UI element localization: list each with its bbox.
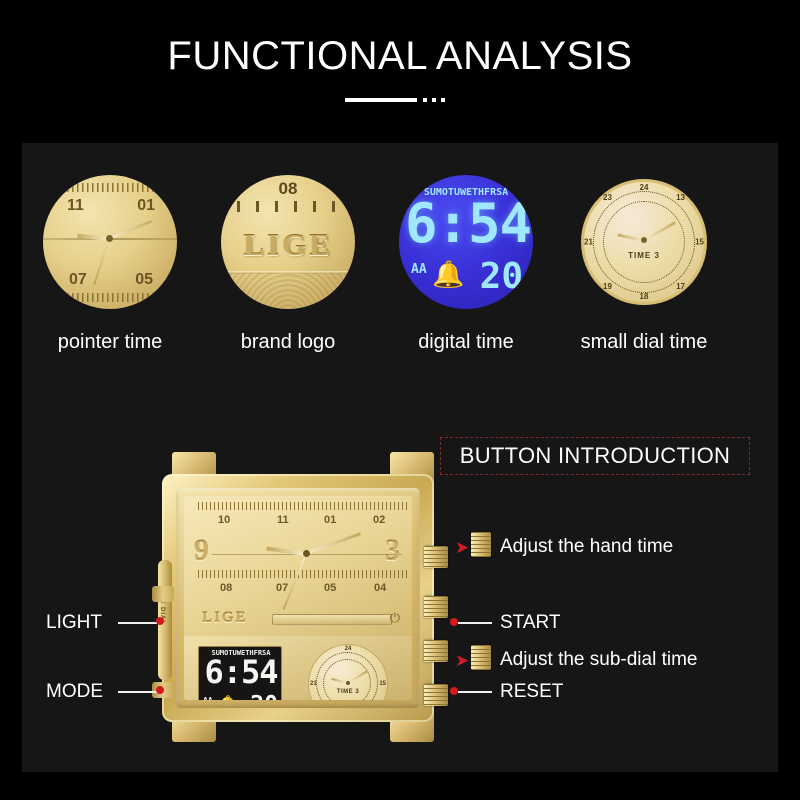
tick-marks [198, 570, 410, 578]
red-arrow-icon: ➤ [455, 539, 469, 556]
watch-dial: 10 11 01 02 08 07 05 04 9 3 [184, 496, 412, 700]
dial-numeral: 05 [135, 271, 153, 289]
brand-row: LIGE ⏻ [184, 608, 412, 634]
dial-numeral: 01 [324, 514, 336, 526]
hand-pivot [303, 550, 310, 557]
subdial-hour-label: 21 [584, 238, 593, 247]
red-dot-icon [156, 686, 164, 694]
analog-dial-closeup-icon: 11 01 07 05 [43, 175, 177, 309]
light-pusher-button[interactable] [152, 586, 174, 602]
lower-dial-section: SUMOTUWETHFRSA 6:54 AA 🔔 20 24 15 18 [184, 636, 412, 700]
brand-wordmark: LIGE [202, 610, 248, 627]
callout-label-mode: MODE [46, 681, 103, 703]
tick-marks [237, 201, 339, 212]
meridiem-indicator: AA [203, 696, 213, 700]
crown-sub-dial-time[interactable] [424, 640, 448, 662]
feature-label: pointer time [30, 331, 190, 354]
dial-numeral: 01 [137, 197, 155, 215]
subdial-hour-label: 15 [695, 238, 704, 247]
embossed-brand-logo-icon: 08 LIGE [221, 175, 355, 309]
crown-hand-time[interactable] [424, 546, 448, 568]
hand-pivot [106, 235, 113, 242]
digital-seconds-value: 20 [250, 694, 278, 700]
digital-time-value: 6:54 [405, 197, 527, 251]
red-dot-icon [450, 618, 458, 626]
tick-marks [57, 293, 163, 302]
dial-slot [272, 614, 392, 625]
power-icon: ⏻ [390, 610, 400, 626]
callout-leader-line [118, 622, 160, 624]
lcd-digital-display-icon: SUMOTUWETHFRSA 6:54 AA 🔔 20 [399, 175, 533, 309]
feature-digital-time: SUMOTUWETHFRSA 6:54 AA 🔔 20 digital time [386, 175, 546, 354]
callout-leader-line [458, 622, 492, 624]
digital-time-value: 6:54 [200, 656, 282, 688]
red-dot-icon [450, 687, 458, 695]
analog-dial-section: 10 11 01 02 08 07 05 04 9 3 [184, 496, 412, 604]
feature-label: digital time [386, 331, 546, 354]
subdial-hour-label: 17 [676, 282, 685, 291]
subdial-hour-label: 24 [640, 183, 649, 192]
header: FUNCTIONAL ANALYSIS [0, 34, 800, 107]
dial-numeral: 08 [279, 179, 298, 199]
button-introduction-box: BUTTON INTRODUCTION [440, 437, 750, 475]
feature-brand-logo: 08 LIGE brand logo [208, 175, 368, 354]
dial-numeral: 11 [67, 197, 84, 215]
dial-numeral: 04 [374, 582, 386, 594]
callout-label-start: START [500, 612, 561, 634]
bell-icon: 🔔 [217, 696, 238, 700]
brand-wordmark: LIGE [221, 227, 355, 263]
callout-leader-line [118, 691, 160, 693]
divider-bar [345, 98, 417, 102]
lcd-display: SUMOTUWETHFRSA 6:54 AA 🔔 20 [198, 646, 282, 700]
dial-numeral: 07 [276, 582, 288, 594]
dial-numeral: 08 [220, 582, 232, 594]
digital-seconds-value: 20 [480, 259, 523, 295]
title-divider-icon [345, 93, 455, 107]
subdial-hour-label: 15 [379, 681, 386, 687]
red-arrow-icon: ➤ [455, 652, 469, 669]
subdial-hour-label: 13 [676, 193, 685, 202]
watch-case: TIME DIAL 10 11 01 02 0 [162, 474, 434, 722]
hand-pivot [641, 237, 647, 243]
feature-small-dial-time: 24 13 15 17 18 19 21 23 TIME 3 small dia… [564, 175, 724, 354]
watch-bezel: 10 11 01 02 08 07 05 04 9 3 [176, 488, 420, 708]
watch-subdial: 24 15 18 21 TIME 3 [308, 644, 388, 700]
subdial-hour-label: 23 [603, 193, 612, 202]
dial-index-left: 9 [194, 534, 209, 568]
meridiem-indicator: AA [411, 262, 427, 277]
dial-index-right: 3 [385, 534, 400, 568]
dial-numeral: 11 [277, 514, 289, 526]
subdial-center-text: TIME 3 [308, 689, 388, 695]
dial-numeral: 02 [373, 514, 385, 526]
page-title: FUNCTIONAL ANALYSIS [0, 34, 800, 79]
crown-start[interactable] [424, 596, 448, 618]
crown-icon [471, 532, 491, 557]
callout-leader-line [458, 691, 492, 693]
watch-illustration: TIME DIAL 10 11 01 02 0 [152, 452, 452, 742]
hand-pivot [346, 681, 350, 685]
feature-label: small dial time [564, 331, 724, 354]
24-hour-subdial-icon: 24 13 15 17 18 19 21 23 TIME 3 [577, 175, 711, 309]
subdial-hour-label: 21 [310, 681, 317, 687]
divider-dot [432, 98, 436, 102]
subdial-center-text: TIME 3 [577, 251, 711, 260]
subdial-hour-label: 18 [640, 292, 649, 301]
minute-hand-icon [108, 220, 152, 240]
tick-marks [198, 502, 410, 510]
dial-numeral: 10 [218, 514, 230, 526]
bell-icon: 🔔 [432, 261, 464, 287]
dial-numeral: 05 [324, 582, 336, 594]
callout-label-light: LIGHT [46, 612, 102, 634]
callout-label-adjust-sub-dial-time: Adjust the sub-dial time [500, 649, 698, 671]
feature-label: brand logo [208, 331, 368, 354]
button-introduction-heading: BUTTON INTRODUCTION [460, 443, 731, 469]
callout-label-reset: RESET [500, 681, 563, 703]
red-dot-icon [156, 617, 164, 625]
crown-icon [471, 645, 491, 670]
guilloche-texture [221, 273, 355, 309]
dial-numeral: 07 [69, 271, 87, 289]
subdial-hour-label: 24 [345, 646, 352, 652]
subdial-hour-label: 19 [603, 282, 612, 291]
feature-pointer-time: 11 01 07 05 pointer time [30, 175, 190, 354]
divider-dot [441, 98, 445, 102]
callout-label-adjust-hand-time: Adjust the hand time [500, 536, 673, 558]
infographic-root: FUNCTIONAL ANALYSIS 11 01 07 05 [0, 0, 800, 800]
crown-reset[interactable] [424, 684, 448, 706]
divider-dot [423, 98, 427, 102]
tick-marks [57, 183, 163, 192]
second-hand-icon [93, 239, 110, 285]
minute-hand-icon [305, 532, 361, 555]
